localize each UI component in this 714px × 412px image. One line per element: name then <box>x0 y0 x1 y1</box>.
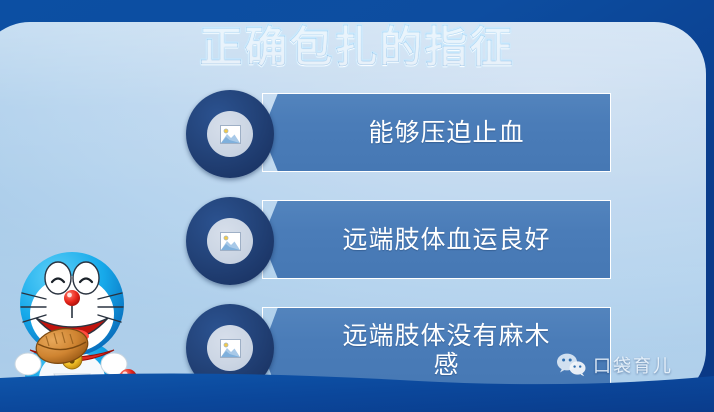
item-marker-inner <box>207 325 253 371</box>
image-placeholder-glyph <box>221 126 240 143</box>
wechat-icon <box>556 353 586 377</box>
item-marker-circle[interactable] <box>186 197 274 285</box>
item-marker-inner <box>207 218 253 264</box>
item-label: 能够压迫止血 <box>368 118 524 148</box>
image-placeholder-icon <box>220 339 241 358</box>
item-bubble[interactable]: 能够压迫止血 <box>262 93 611 172</box>
doraemon-nose-highlight <box>67 293 72 298</box>
image-placeholder-glyph <box>221 233 240 250</box>
watermark: 口袋育儿 <box>556 352 673 378</box>
image-placeholder-glyph <box>221 340 240 357</box>
slide-canvas: 正确包扎的指征 能够压迫止血 远端肢体血运良好 <box>0 0 714 412</box>
item-bubble[interactable]: 远端肢体血运良好 <box>262 200 611 279</box>
watermark-label: 口袋育儿 <box>593 352 673 378</box>
item-label: 远端肢体血运良好 <box>342 225 550 255</box>
item-marker-circle[interactable] <box>186 90 274 178</box>
image-placeholder-icon <box>220 125 241 144</box>
image-placeholder-icon <box>220 232 241 251</box>
doraemon-nose <box>64 290 80 306</box>
item-marker-inner <box>207 111 253 157</box>
page-title: 正确包扎的指征 <box>0 22 714 74</box>
